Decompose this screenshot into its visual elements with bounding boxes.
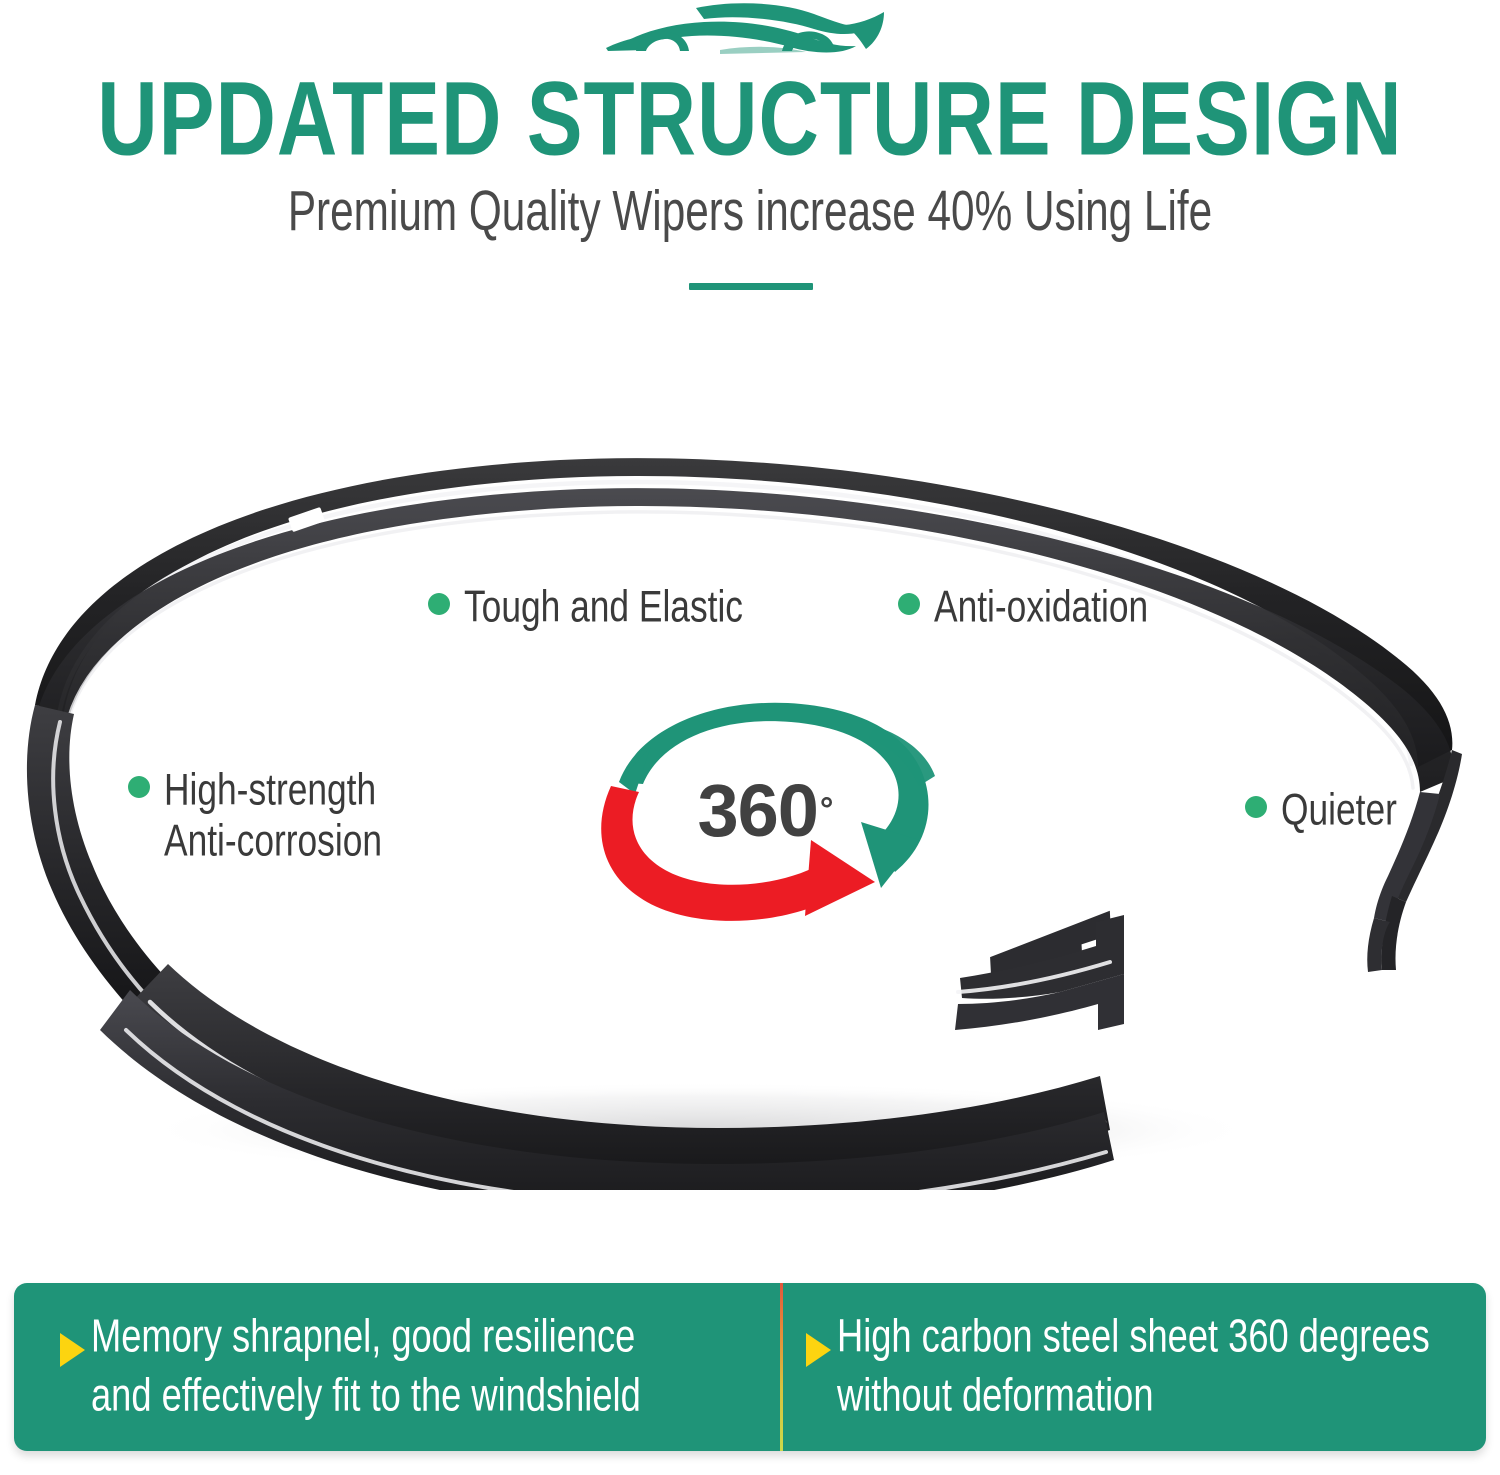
bullet-dot-icon xyxy=(898,593,920,615)
car-silhouette-logo-icon xyxy=(600,2,900,64)
benefit-line2: and effectively fit to the windshield xyxy=(91,1367,641,1426)
feature-anti-oxidation: Anti-oxidation xyxy=(898,582,1164,626)
triangle-bullet-icon xyxy=(806,1333,831,1367)
feature-label: High-strength Anti-corrosion xyxy=(164,765,382,867)
benefit-item-1: Memory shrapnel, good resilience and eff… xyxy=(14,1283,750,1451)
rotation-360-badge: 360° xyxy=(575,690,955,930)
benefit-line1: Memory shrapnel, good resilience xyxy=(91,1312,635,1363)
feature-quieter: Quieter xyxy=(1245,785,1406,829)
feature-tough-and-elastic: Tough and Elastic xyxy=(428,582,764,626)
benefit-line1: High carbon steel sheet 360 degrees xyxy=(837,1312,1430,1363)
title-divider xyxy=(689,283,813,290)
bullet-dot-icon xyxy=(1245,796,1267,818)
benefit-line2: without deformation xyxy=(837,1367,1430,1426)
triangle-bullet-icon xyxy=(60,1333,85,1367)
feature-high-strength-anti-corrosion: High-strength Anti-corrosion xyxy=(128,765,398,853)
feature-label-line2: Anti-corrosion xyxy=(164,816,382,867)
feature-label: Tough and Elastic xyxy=(464,582,743,633)
benefit-item-2: High carbon steel sheet 360 degrees with… xyxy=(750,1283,1486,1451)
feature-label: Anti-oxidation xyxy=(934,582,1148,633)
product-infographic-page: UPDATED STRUCTURE DESIGN Premium Quality… xyxy=(0,0,1500,1475)
page-title: UPDATED STRUCTURE DESIGN xyxy=(0,66,1500,174)
benefit-text: High carbon steel sheet 360 degrees with… xyxy=(837,1308,1430,1426)
bullet-dot-icon xyxy=(128,776,150,798)
benefit-text: Memory shrapnel, good resilience and eff… xyxy=(91,1308,641,1426)
banner-divider xyxy=(780,1283,783,1451)
bullet-dot-icon xyxy=(428,593,450,615)
feature-label-line1: High-strength xyxy=(164,766,376,815)
brand-logo xyxy=(0,2,1500,64)
benefits-banner: Memory shrapnel, good resilience and eff… xyxy=(14,1283,1486,1451)
feature-label: Quieter xyxy=(1281,785,1397,836)
rotation-360-arrows-icon xyxy=(575,690,955,930)
page-subtitle: Premium Quality Wipers increase 40% Usin… xyxy=(60,180,1440,241)
